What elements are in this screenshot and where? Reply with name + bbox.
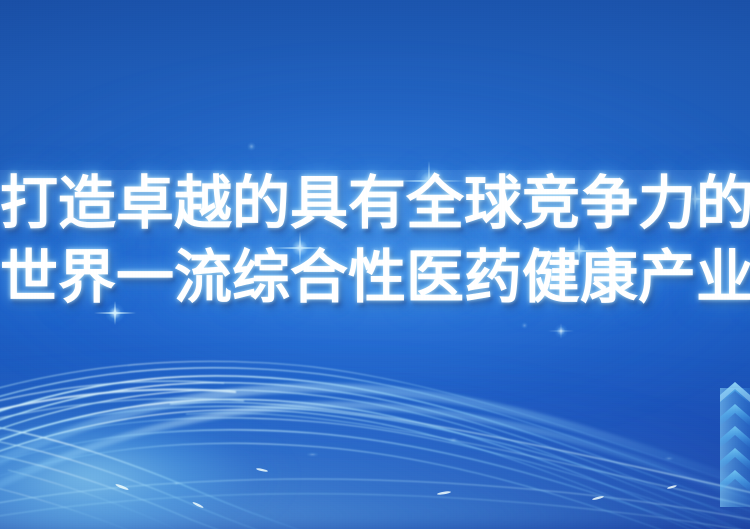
hero-banner: 打造卓越的具有全球竞争力的 世界一流综合性医药健康产业集团	[0, 0, 750, 529]
aqua-glow-pool	[0, 392, 300, 529]
